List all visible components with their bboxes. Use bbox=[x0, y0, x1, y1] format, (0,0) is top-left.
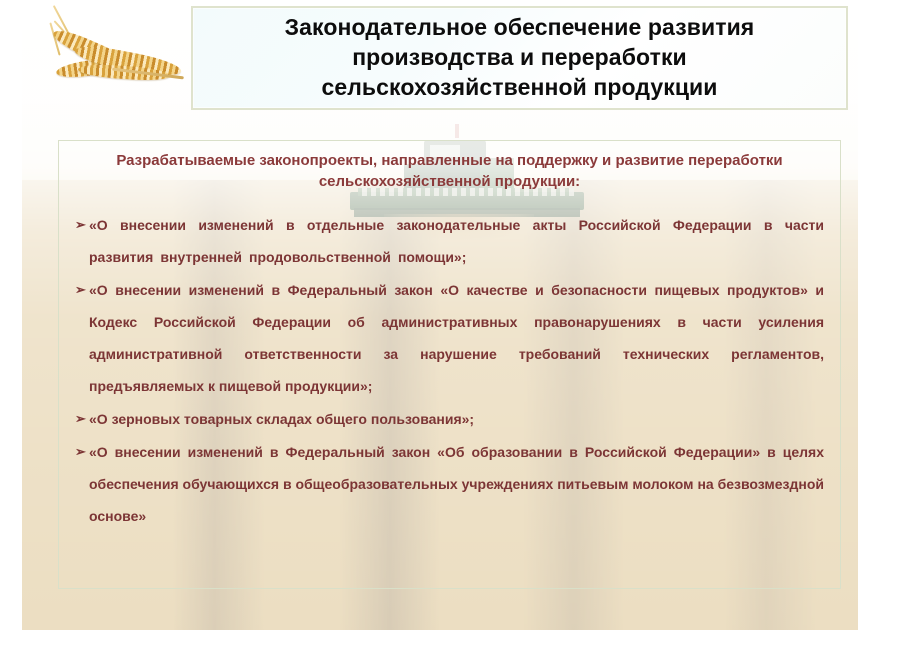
list-item-label: «О внесении изменений в отдельные законо… bbox=[89, 217, 824, 265]
list-item-label: «О внесении изменений в Федеральный зако… bbox=[89, 444, 824, 524]
list-item: ➢ «О внесении изменений в Федеральный за… bbox=[75, 275, 824, 403]
list-item: ➢ «О внесении изменений в отдельные зако… bbox=[75, 210, 824, 274]
page-title-line-1: Законодательное обеспечение развития bbox=[285, 14, 755, 40]
list-item-label: «О зерновых товарных складах общего поль… bbox=[89, 411, 474, 427]
content-subtitle: Разрабатываемые законопроекты, направлен… bbox=[75, 151, 824, 192]
list-item: ➢ «О внесении изменений в Федеральный за… bbox=[75, 437, 824, 533]
list-item-label: «О внесении изменений в Федеральный зако… bbox=[89, 282, 824, 394]
bullet-arrow-icon: ➢ bbox=[75, 210, 86, 240]
wheat-ears-icon bbox=[16, 8, 184, 112]
slide-canvas: Законодательное обеспечение развития про… bbox=[0, 0, 900, 665]
content-box: Разрабатываемые законопроекты, направлен… bbox=[58, 140, 841, 589]
page-title: Законодательное обеспечение развития про… bbox=[271, 13, 769, 103]
page-title-line-2: производства и переработки bbox=[352, 44, 687, 70]
bullet-arrow-icon: ➢ bbox=[75, 404, 86, 434]
bullet-arrow-icon: ➢ bbox=[75, 275, 86, 305]
page-title-line-3: сельскохозяйственной продукции bbox=[321, 74, 717, 100]
bullet-arrow-icon: ➢ bbox=[75, 437, 86, 467]
legislation-bullet-list: ➢ «О внесении изменений в отдельные зако… bbox=[75, 210, 824, 532]
slide-title-box: Законодательное обеспечение развития про… bbox=[191, 6, 848, 110]
list-item: ➢ «О зерновых товарных складах общего по… bbox=[75, 404, 824, 436]
